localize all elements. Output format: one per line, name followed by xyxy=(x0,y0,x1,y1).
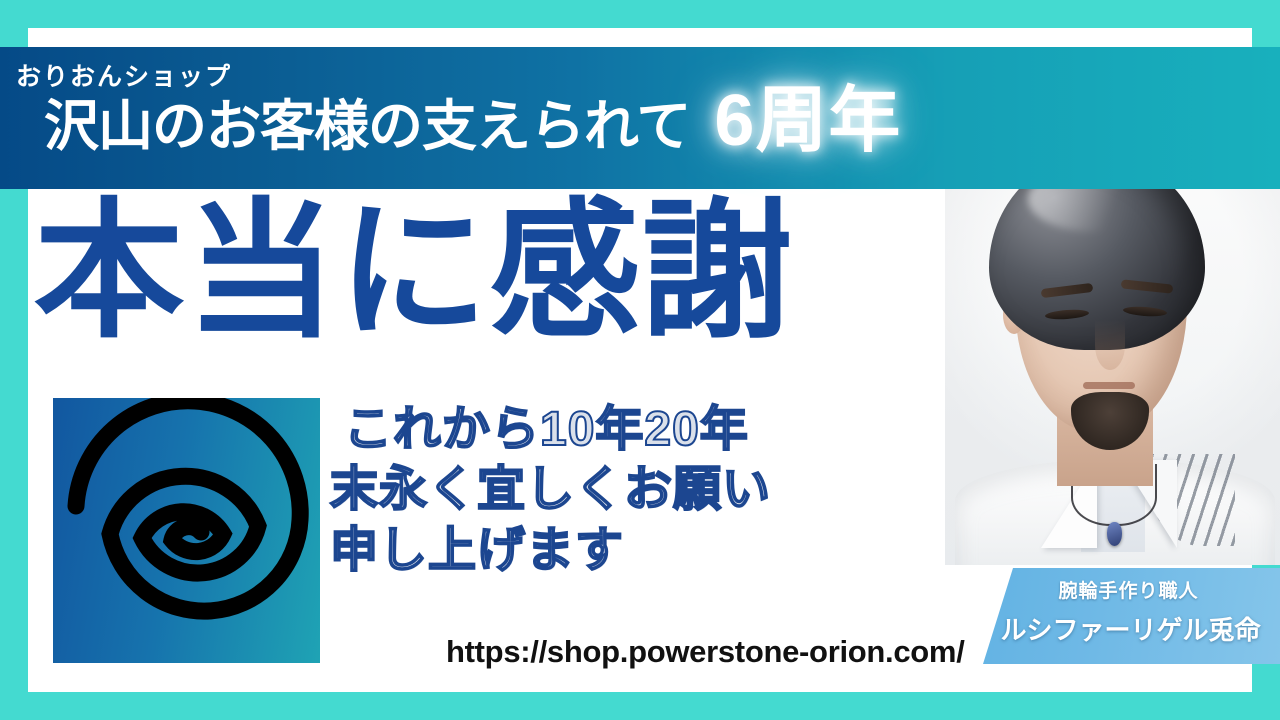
header-headline-row: 沢山のお客様の支えられて 6周年 xyxy=(44,85,901,157)
portrait-pendant xyxy=(1107,522,1122,546)
badge-role-label: 腕輪手作り職人 xyxy=(983,576,1274,603)
shop-url[interactable]: https://shop.powerstone-orion.com/ xyxy=(446,634,965,670)
portrait-nose xyxy=(1095,320,1125,370)
message-line-1: これから10年20年 xyxy=(344,400,771,460)
message-line-2: 末永く宜しくお願い xyxy=(330,460,771,520)
thumbnail-canvas: おりおんショップ 沢山のお客様の支えられて 6周年 本当に感謝 これから10年2… xyxy=(0,0,1280,720)
header-band: おりおんショップ 沢山のお客様の支えられて 6周年 xyxy=(0,47,1280,189)
page-title: 本当に感謝 xyxy=(34,196,794,346)
header-headline-main: 沢山のお客様の支えられて xyxy=(44,99,690,154)
spiral-icon xyxy=(53,398,320,663)
header-anniversary-accent: 6周年 xyxy=(714,85,901,157)
name-badge: 腕輪手作り職人 ルシファーリゲル兎命 xyxy=(983,568,1280,664)
thank-you-message: これから10年20年 末永く宜しくお願い 申し上げます xyxy=(330,400,771,581)
portrait-mouth xyxy=(1083,382,1135,389)
portrait-image-content xyxy=(945,160,1280,565)
portrait-photo xyxy=(945,160,1280,565)
spiral-logo xyxy=(53,398,320,663)
message-line-3: 申し上げます xyxy=(330,521,771,581)
badge-person-name: ルシファーリゲル兎命 xyxy=(983,610,1278,647)
